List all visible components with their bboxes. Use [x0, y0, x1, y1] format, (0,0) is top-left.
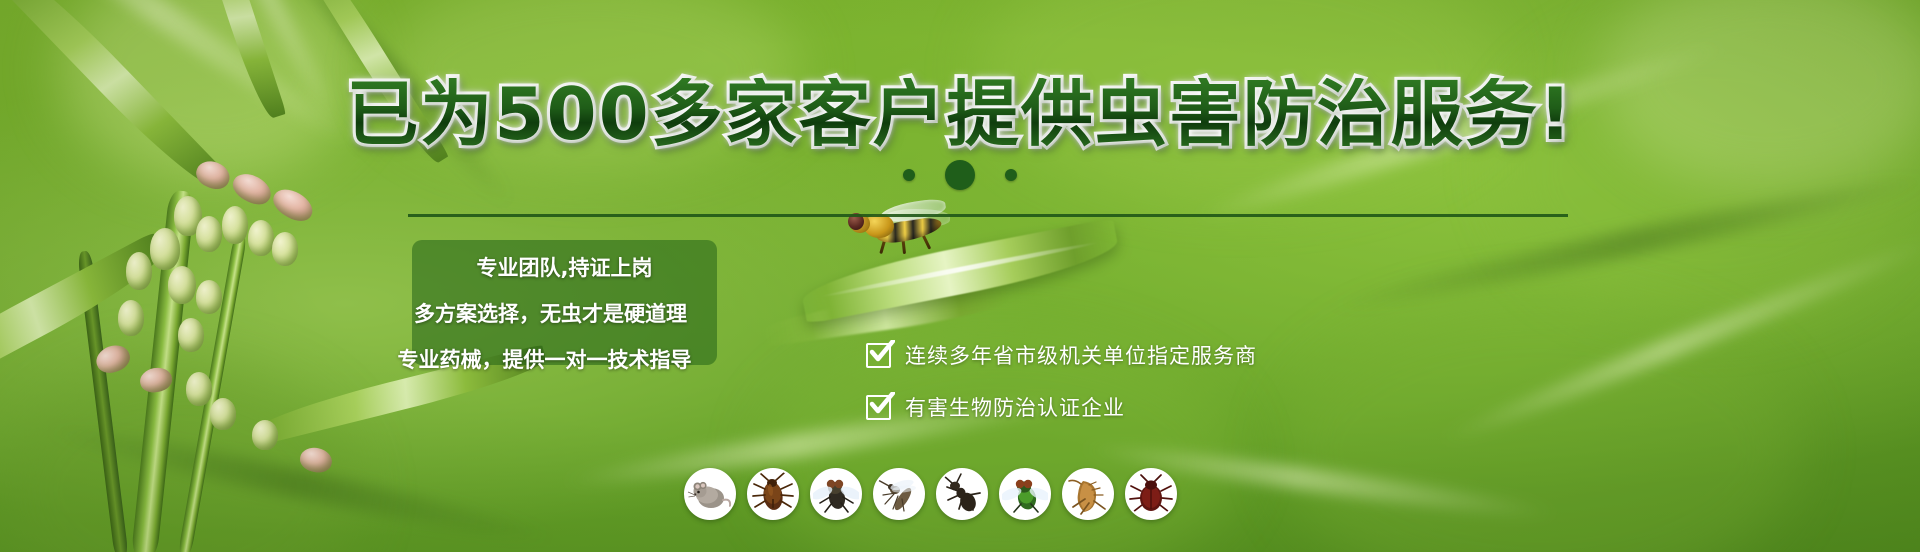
mosquito-icon[interactable]: 蚊子 [873, 468, 925, 520]
credentials-list: 连续多年省市级机关单位指定服务商 有害生物防治认证企业 [866, 340, 1257, 444]
divider [408, 214, 1568, 217]
dot-small-right [1005, 169, 1017, 181]
promo-banner: 已为500多家客户提供虫害防治服务! 已为500多家客户提供虫害防治服务! 专业… [0, 0, 1920, 552]
fly-icon[interactable]: 苍蝇 [810, 468, 862, 520]
dot-small-left [903, 169, 915, 181]
blowfly-icon[interactable]: 绿头苍蝇 [999, 468, 1051, 520]
mouse-icon[interactable]: 老鼠 [684, 468, 736, 520]
selling-point-line-2: 多方案选择，无虫才是硬道理 [398, 298, 703, 328]
list-item: 有害生物防治认证企业 [866, 392, 1257, 422]
checkbox-checked-icon [866, 343, 891, 368]
flea-icon[interactable]: 跳蚤 [1062, 468, 1114, 520]
dot-large-center [945, 160, 975, 190]
cockroach-icon[interactable]: 蟑螂 [747, 468, 799, 520]
credential-label: 有害生物防治认证企业 [905, 392, 1125, 422]
selling-point-line-3: 专业药械，提供一对一技术指导 [386, 344, 703, 374]
selling-points-box: 专业团队,持证上岗 多方案选择，无虫才是硬道理 专业药械，提供一对一技术指导 [412, 240, 717, 365]
ant-icon[interactable]: 蚂蚁 [936, 468, 988, 520]
checkbox-checked-icon [866, 395, 891, 420]
hoverfly-icon [846, 200, 956, 256]
pest-icon-row: 老鼠 蟑螂 [684, 468, 1177, 520]
decorative-dots [0, 160, 1920, 190]
list-item: 连续多年省市级机关单位指定服务商 [866, 340, 1257, 370]
bedbug-icon[interactable]: 臭虫 [1125, 468, 1177, 520]
credential-label: 连续多年省市级机关单位指定服务商 [905, 340, 1257, 370]
selling-point-line-1: 专业团队,持证上岗 [426, 252, 703, 282]
page-title: 已为500多家客户提供虫害防治服务! [0, 78, 1920, 150]
